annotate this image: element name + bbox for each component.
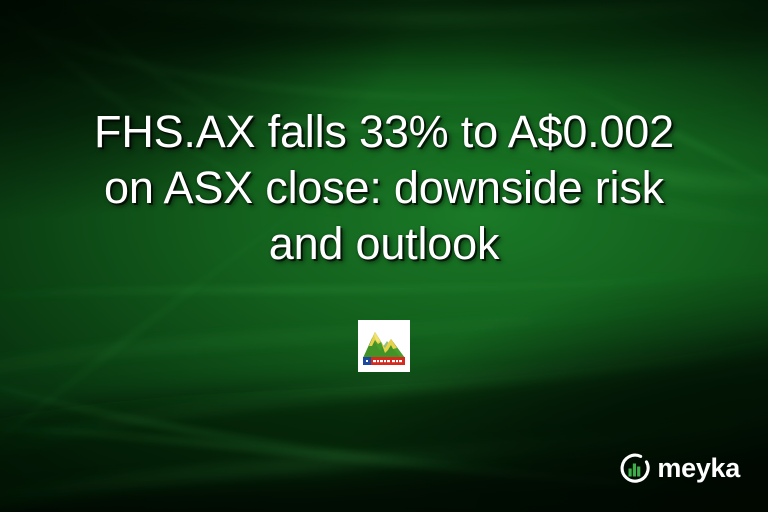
meyka-wordmark: meyka: [657, 455, 740, 482]
company-logo: [358, 320, 410, 372]
page-title: FHS.AX falls 33% to A$0.002 on ASX close…: [0, 104, 768, 272]
news-card-slide: FHS.AX falls 33% to A$0.002 on ASX close…: [0, 0, 768, 512]
fireball-mining-logo-icon: [361, 324, 407, 368]
meyka-watermark: meyka: [619, 452, 740, 484]
meyka-logo-icon: [619, 452, 651, 484]
